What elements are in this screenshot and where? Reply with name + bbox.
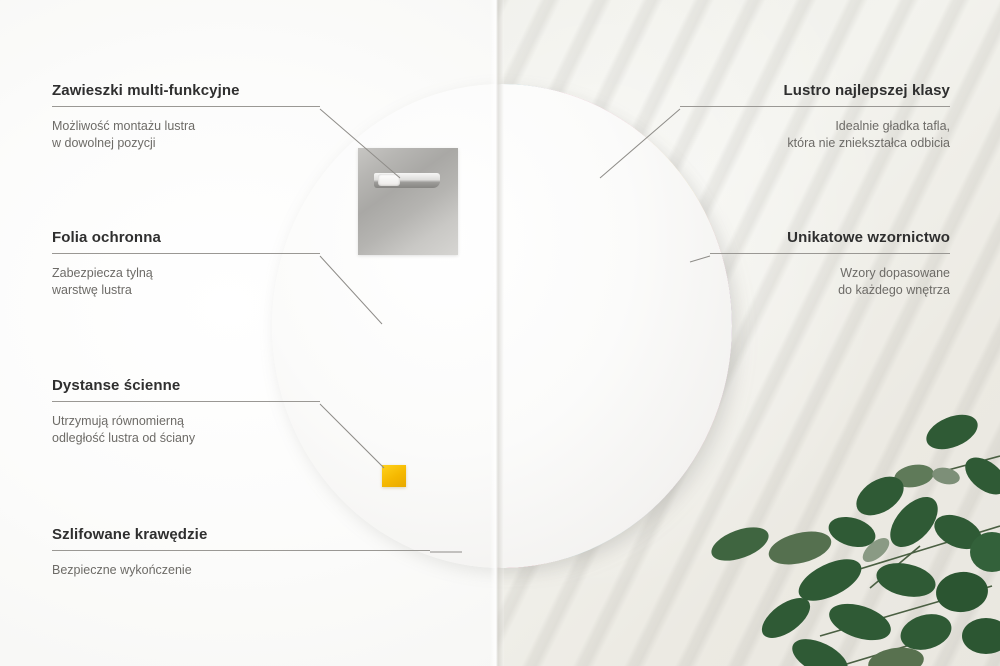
callout-unikatowe-wzornictwo: Unikatowe wzornictwo Wzory dopasowane do… [710, 229, 950, 299]
callout-title: Lustro najlepszej klasy [680, 82, 950, 99]
callout-lustro-najlepszej-klasy: Lustro najlepszej klasy Idealnie gładka … [680, 82, 950, 152]
callout-rule [52, 550, 430, 551]
callout-rule [680, 106, 950, 107]
hanger-bracket [358, 148, 458, 255]
callout-rule [52, 401, 320, 402]
callout-title: Zawieszki multi-funkcyjne [52, 82, 320, 99]
callout-title: Unikatowe wzornictwo [710, 229, 950, 246]
callout-zawieszki: Zawieszki multi-funkcyjne Możliwość mont… [52, 82, 320, 152]
hanger-keyhole [378, 174, 400, 186]
half-split-seam [490, 0, 504, 666]
callout-body: Utrzymują równomierną odległość lustra o… [52, 413, 320, 447]
yellow-spacer [382, 465, 406, 487]
infographic-stage: Zawieszki multi-funkcyjne Możliwość mont… [0, 0, 1000, 666]
callout-rule [52, 106, 320, 107]
callout-rule [710, 253, 950, 254]
callout-title: Dystanse ścienne [52, 377, 320, 394]
callout-body: Zabezpiecza tylną warstwę lustra [52, 265, 320, 299]
callout-body: Możliwość montażu lustra w dowolnej pozy… [52, 118, 320, 152]
callout-folia: Folia ochronna Zabezpiecza tylną warstwę… [52, 229, 320, 299]
callout-title: Folia ochronna [52, 229, 320, 246]
callout-rule [52, 253, 320, 254]
callout-body: Bezpieczne wykończenie [52, 562, 430, 579]
callout-body: Idealnie gładka tafla, która nie znieksz… [680, 118, 950, 152]
callout-krawedzie: Szlifowane krawędzie Bezpieczne wykończe… [52, 526, 430, 579]
decor-plant [700, 336, 1000, 666]
callout-body: Wzory dopasowane do każdego wnętrza [710, 265, 950, 299]
callout-title: Szlifowane krawędzie [52, 526, 430, 543]
callout-dystanse: Dystanse ścienne Utrzymują równomierną o… [52, 377, 320, 447]
